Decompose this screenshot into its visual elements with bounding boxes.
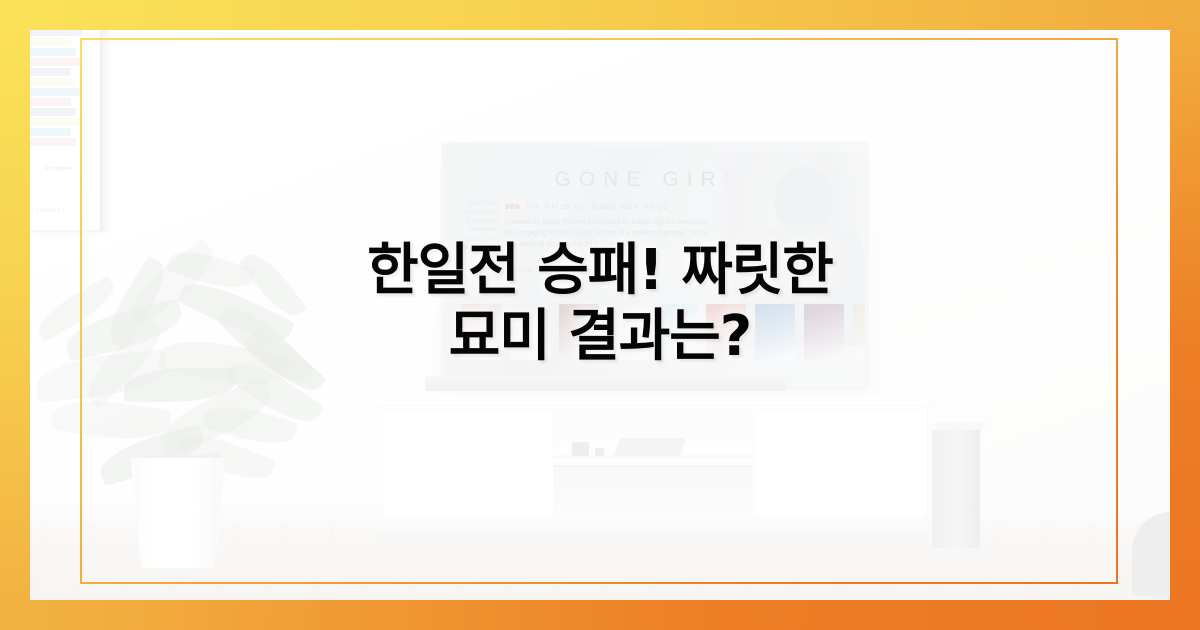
headline-text: 한일전 승패! 짜릿한 묘미 결과는? bbox=[0, 238, 1200, 370]
thumbnail-card: Jo Stephens ( NUMBER ) GONE GIRL DIRECTO… bbox=[0, 0, 1200, 630]
